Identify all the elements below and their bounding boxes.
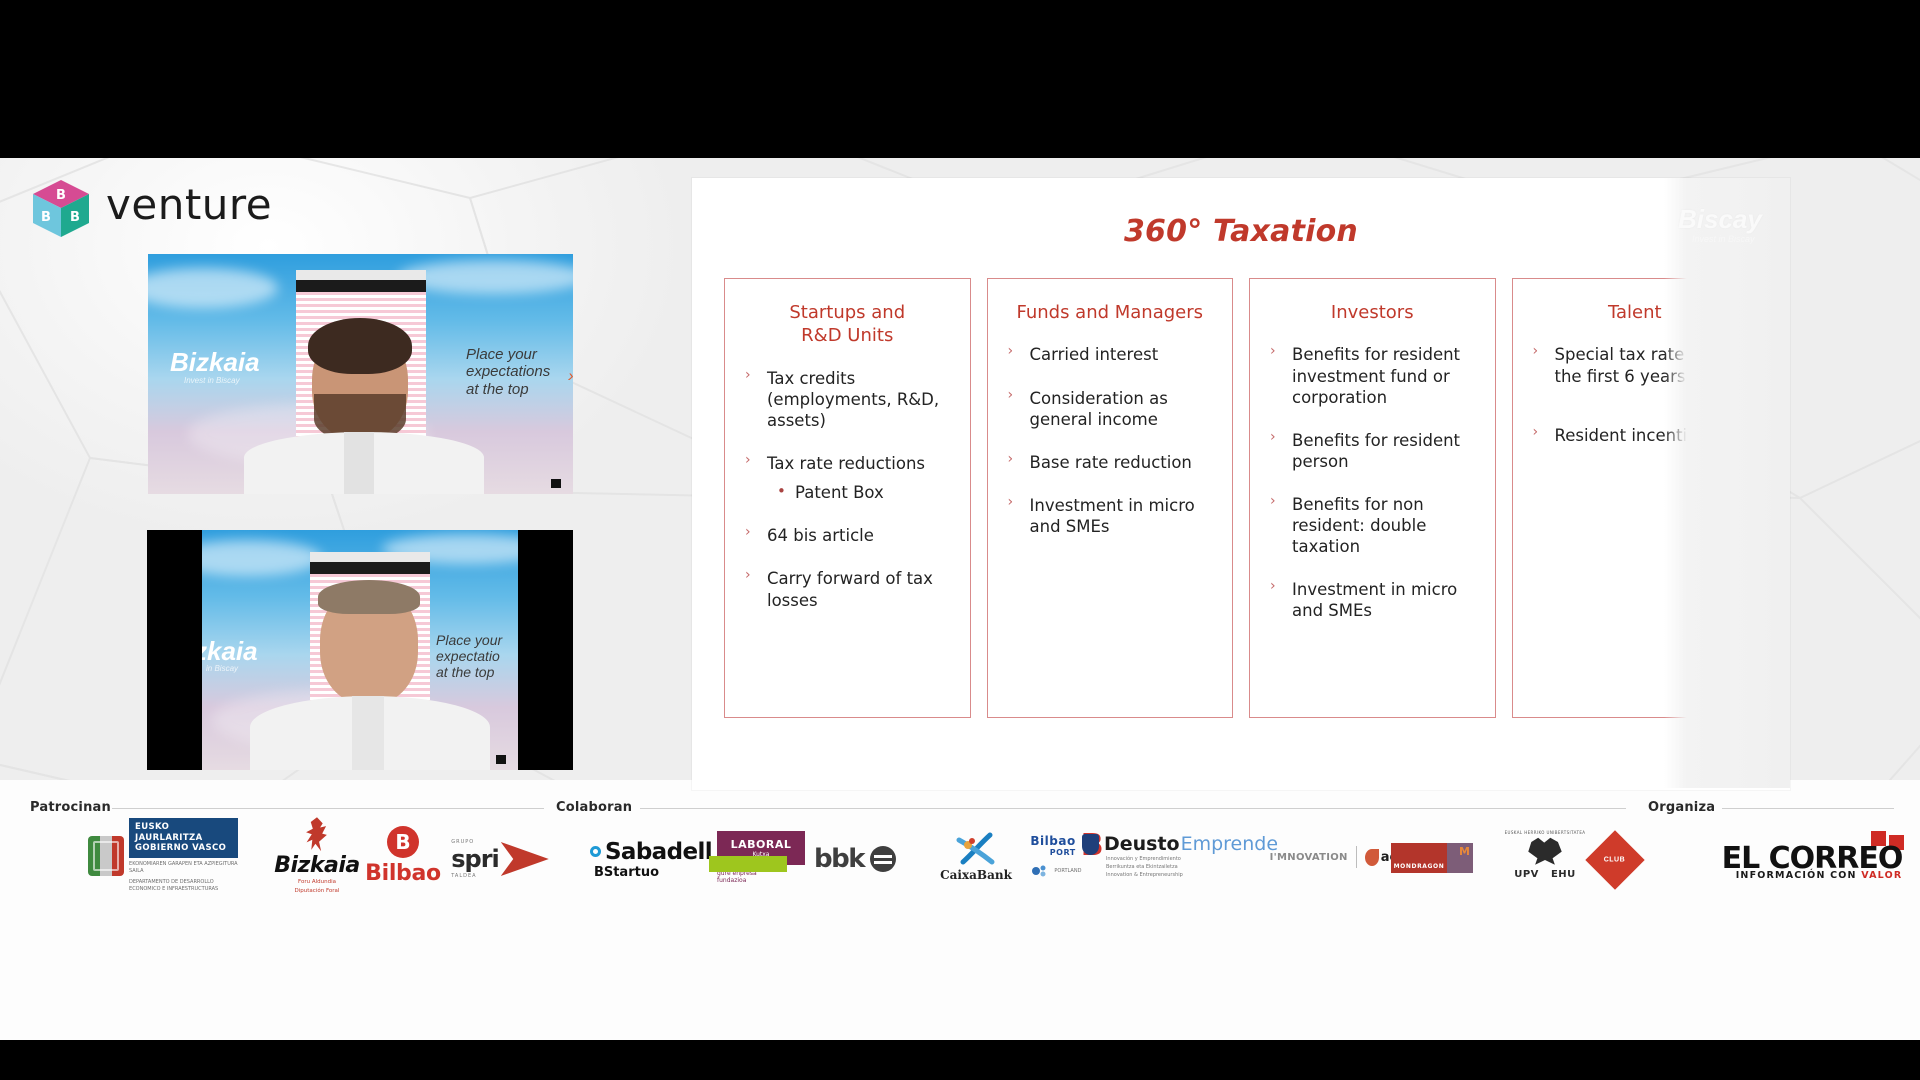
letterbox-bottom (0, 1040, 1920, 1080)
bilbao-b-icon: B (387, 826, 419, 858)
list-item: ›Tax credits (employments, R&D, assets) (739, 368, 956, 431)
bizkaia-bg-subtitle: in Biscay (206, 664, 238, 673)
logo-grupo-spri[interactable]: GRUPO spri TALDEA (432, 836, 568, 882)
chevron-bullet-icon: › (1008, 387, 1014, 405)
bbventure-logo: B B B venture (30, 178, 300, 240)
list-item: ›64 bis article (739, 525, 956, 546)
deusto-fine-2: Berrikuntza eta Ekintzailetza (1106, 863, 1278, 871)
column-title: Talent (1527, 301, 1744, 324)
gobierno-vasco-fine-1: EKONOMIAREN GARAPEN ETA AZPIEGITURA SAIL… (129, 861, 238, 876)
logo-deusto-emprende[interactable]: Deusto Emprende Innovación y Emprendimie… (1090, 826, 1270, 886)
section-label-organiza: Organiza (1648, 800, 1715, 815)
bizkaia-wordmark: Bizkaia (274, 853, 359, 878)
portland-mark-icon (1030, 863, 1050, 879)
spri-wordmark: spri (451, 845, 499, 873)
emprende-wordmark: Emprende (1181, 833, 1278, 855)
upv-ehu-crest-icon (1526, 836, 1564, 866)
spri-fine: TALDEA (451, 873, 499, 879)
virtual-background: zkaia in Biscay Place your expectatio at… (202, 530, 518, 770)
chevron-bullet-icon: › (1270, 343, 1276, 361)
section-label-colaboran: Colaboran (556, 800, 632, 815)
divider (1356, 846, 1357, 868)
logo-laboral-kutxa[interactable]: LABORAL Kutxa gure enpresa fundazioa (706, 828, 816, 886)
bullet-list: ›Carried interest ›Consideration as gene… (1002, 344, 1219, 537)
gobierno-vasco-shield-icon (88, 836, 124, 876)
divider (112, 808, 544, 809)
dot-bullet-icon: • (777, 482, 786, 501)
logo-caixabank[interactable]: CaixaBank (928, 828, 1024, 886)
bizkaia-fine-1: Foru Aldundia (274, 878, 359, 886)
acciona-mark-icon (1365, 849, 1379, 866)
sabadell-wordmark: Sabadell (605, 839, 712, 865)
column-title: Startups and R&D Units (739, 301, 956, 348)
chevron-bullet-icon: › (1008, 343, 1014, 361)
bbk-wordmark: bbk (814, 844, 864, 874)
gobierno-vasco-bar: EUSKO JAURLARITZA GOBIERNO VASCO (129, 818, 238, 858)
upv-fine: EUSKAL HERRIKO UNIBERTSITATEA (1505, 830, 1586, 835)
logo-upv-ehu[interactable]: EUSKAL HERRIKO UNIBERTSITATEA UPV EHU (1500, 826, 1590, 884)
bilbao-port-sub: PORT (1030, 848, 1075, 857)
list-item: ›Investment in micro and SMEs (1002, 495, 1219, 537)
bullet-list: ›Special tax rate for the first 6 years … (1527, 344, 1744, 445)
mondragon-wordmark: MONDRAGON (1394, 863, 1445, 870)
list-item: ›Benefits for resident person (1264, 430, 1481, 472)
imnovation-wordmark: I'MNOVATION (1270, 852, 1348, 863)
club-diamond-icon: CLUB (1585, 830, 1644, 889)
logo-mondragon[interactable]: MONDRAGON M (1382, 840, 1482, 876)
screen: B B B venture Bizkaia Invest in Biscay P… (0, 0, 1920, 1080)
list-item: ›Resident incentives (1527, 425, 1744, 446)
bullet-list: ›Benefits for resident investment fund o… (1264, 344, 1481, 621)
sabadell-sub: BStartuo (594, 865, 712, 880)
list-item-sub: •Patent Box (739, 482, 956, 503)
divider (640, 808, 1626, 809)
deusto-wordmark: Deusto (1104, 833, 1180, 855)
taxation-column-startups[interactable]: Startups and R&D Units ›Tax credits (emp… (724, 278, 971, 718)
slide-title: 360° Taxation (692, 214, 1790, 249)
chevron-right-icon: › (568, 366, 573, 386)
column-title: Funds and Managers (1002, 301, 1219, 324)
bizkaia-tagline: Place your expectatio at the top (436, 632, 502, 680)
presentation-slide[interactable]: 360° Taxation Startups and R&D Units ›Ta… (692, 178, 1790, 790)
laboral-kutxa-label: Kutxa (731, 851, 792, 858)
bbk-circle-icon (870, 846, 896, 872)
list-item: ›Carried interest (1002, 344, 1219, 365)
mondragon-m-block: M (1447, 843, 1473, 873)
bizkaia-bg-wordmark: zkaia (202, 636, 258, 667)
spri-arrow-icon (501, 842, 549, 876)
bullet-list: ›Tax credits (employments, R&D, assets) … (739, 368, 956, 611)
gobierno-vasco-fine-2: DEPARTAMENTO DE DESARROLLO ECONOMICO E I… (129, 879, 238, 894)
list-item: ›Benefits for non resident: double taxat… (1264, 494, 1481, 557)
mondragon-m-icon: M (1459, 845, 1470, 858)
logo-bbk[interactable]: bbk (800, 842, 910, 876)
upv-label: UPV (1514, 869, 1539, 880)
list-item: ›Special tax rate for the first 6 years (1527, 344, 1744, 386)
deusto-fine-3: Innovation & Entrepreneurship (1106, 871, 1278, 879)
bizkaia-bg-wordmark: Bizkaia (170, 347, 260, 378)
laboral-wordmark: LABORAL (731, 838, 792, 851)
deusto-fine-1: Innovación y Emprendimiento (1106, 855, 1278, 863)
bilbao-port-name: Bilbao (1030, 834, 1075, 848)
svg-text:B: B (56, 188, 66, 203)
bizkaia-tagline: Place your expectations at the top (466, 346, 550, 398)
bilbao-wordmark: Bilbao (365, 861, 441, 886)
mondragon-block: MONDRAGON (1391, 843, 1447, 873)
ehu-label: EHU (1551, 869, 1576, 880)
chevron-bullet-icon: › (1533, 343, 1539, 361)
list-item: ›Consideration as general income (1002, 388, 1219, 430)
bizkaia-bg-subtitle: Invest in Biscay (184, 376, 240, 385)
taxation-column-funds[interactable]: Funds and Managers ›Carried interest ›Co… (987, 278, 1234, 718)
caixabank-star-icon (956, 832, 996, 868)
taxation-column-talent[interactable]: Talent ›Special tax rate for the first 6… (1512, 278, 1759, 718)
list-item: ›Base rate reduction (1002, 452, 1219, 473)
taxation-columns: Startups and R&D Units ›Tax credits (emp… (724, 278, 1758, 718)
sabadell-dot-icon (590, 846, 601, 857)
chevron-bullet-icon: › (745, 567, 751, 585)
chevron-bullet-icon: › (745, 367, 751, 385)
chevron-bullet-icon: › (1270, 493, 1276, 511)
list-item: ›Carry forward of tax losses (739, 568, 956, 610)
logo-gobierno-vasco[interactable]: EUSKO JAURLARITZA GOBIERNO VASCO EKONOMI… (88, 826, 238, 886)
logo-sabadell-bstartuo[interactable]: Sabadell BStartuo (586, 832, 716, 886)
svg-text:B: B (41, 210, 51, 225)
video-tile-speaker-2[interactable]: zkaia in Biscay Place your expectatio at… (147, 530, 573, 770)
laboral-kutxa-box: LABORAL Kutxa (717, 831, 805, 865)
letterbox-top (0, 0, 1920, 158)
list-item: ›Benefits for resident investment fund o… (1264, 344, 1481, 407)
bizkaia-flame-icon (304, 817, 330, 851)
bbventure-cube-icon: B B B (30, 178, 92, 240)
section-label-patrocinan: Patrocinan (30, 800, 111, 815)
svg-text:B: B (70, 210, 80, 225)
list-item: ›Tax rate reductions (739, 453, 956, 474)
laboral-fine-2: fundazioa (717, 877, 805, 884)
deusto-shield-icon (1082, 834, 1099, 855)
chevron-bullet-icon: › (1270, 578, 1276, 596)
chevron-bullet-icon: › (1270, 429, 1276, 447)
column-title: Investors (1264, 301, 1481, 324)
chevron-bullet-icon: › (1008, 451, 1014, 469)
chevron-bullet-icon: › (1008, 494, 1014, 512)
caixabank-wordmark: CaixaBank (940, 868, 1012, 882)
chevron-bullet-icon: › (1533, 424, 1539, 442)
video-tile-speaker-1[interactable]: Bizkaia Invest in Biscay Place your expe… (148, 254, 573, 494)
el-correo-wordmark: EL CORREO (1722, 841, 1903, 876)
bbventure-wordmark: venture (106, 180, 272, 229)
list-item: ›Investment in micro and SMEs (1264, 579, 1481, 621)
taxation-column-investors[interactable]: Investors ›Benefits for resident investm… (1249, 278, 1496, 718)
chevron-bullet-icon: › (745, 524, 751, 542)
divider (1722, 808, 1894, 809)
logo-el-correo[interactable]: EL CORREO INFORMACIÓN CON VALOR (1712, 828, 1912, 886)
club-label: CLUB (1604, 856, 1625, 863)
logo-club[interactable]: CLUB (1580, 834, 1650, 886)
bizkaia-fine-2: Diputación Foral (274, 887, 359, 895)
virtual-background: Bizkaia Invest in Biscay Place your expe… (148, 254, 573, 494)
chevron-bullet-icon: › (745, 452, 751, 470)
bilbao-port-fine: PORTLAND (1054, 868, 1081, 874)
